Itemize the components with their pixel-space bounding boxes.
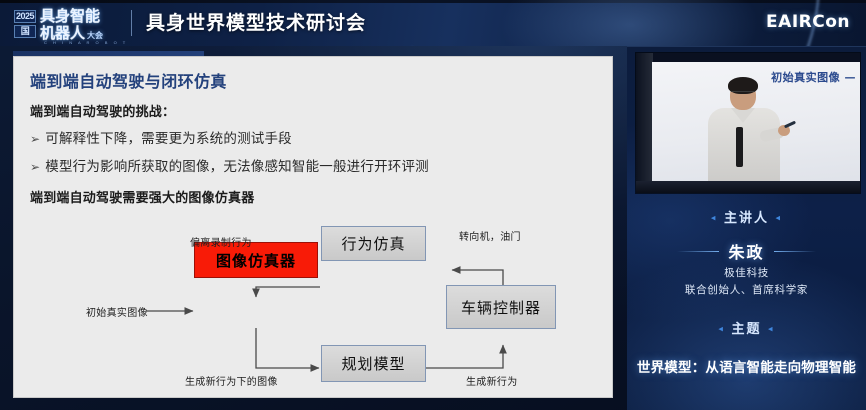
presenter-microphone: [736, 127, 743, 167]
logo-word-line2-sub: 大会: [87, 31, 103, 41]
logo-country-chip: 国: [14, 25, 36, 38]
topic-section-heading: ◂ 主题 ◂: [627, 318, 866, 337]
speaker-heading-text: 主讲人: [724, 211, 769, 226]
screen-root: 2025 国 具身智能 机器人 大会 C H I N A R O B O T 具…: [0, 0, 866, 410]
diagram-label-initial-real-image: 初始真实图像: [86, 304, 148, 319]
logo-year-country-stack: 2025 国: [14, 10, 36, 38]
logo-pinyin: C H I N A R O B O T: [44, 40, 128, 45]
tick-left-icon: ◂: [711, 214, 718, 224]
logo-word-line1: 具身智能: [40, 8, 103, 24]
page-header: 2025 国 具身智能 机器人 大会 C H I N A R O B O T 具…: [0, 0, 866, 46]
diagram-node-planning-model: 规划模型: [321, 345, 426, 382]
speaker-video-thumbnail[interactable]: 初始真实图像 —: [636, 53, 860, 193]
tick-left-icon: ◂: [718, 325, 725, 335]
name-rule-right: [774, 251, 816, 252]
speaker-role: 联合创始人、首席科学家: [627, 282, 866, 297]
video-wall-left: [636, 53, 653, 193]
speaker-section-heading: ◂ 主讲人 ◂: [627, 207, 866, 226]
edge-planning-to-controller: [426, 345, 503, 368]
diagram-label-gen-image-new-behavior: 生成新行为下的图像: [185, 373, 278, 388]
header-title: 具身世界模型技术研讨会: [146, 9, 366, 37]
presentation-slide: 端到端自动驾驶与闭环仿真 端到端自动驾驶的挑战： ➢可解释性下降，需要更为系统的…: [13, 56, 613, 398]
logo-wordmark: 具身智能 机器人 大会: [40, 8, 103, 41]
topic-title: 世界模型：从语言智能走向物理智能: [627, 356, 866, 376]
topic-heading-text: 主题: [731, 322, 761, 337]
speaker-name: 朱政: [728, 239, 764, 263]
diagram-label-gen-new-behavior: 生成新行为: [466, 373, 518, 388]
logo-word-line2: 机器人 大会: [40, 25, 103, 41]
tick-right-icon: ◂: [768, 325, 775, 335]
presenter-glasses: [731, 91, 755, 96]
diagram-node-vehicle-controller: 车辆控制器: [446, 285, 556, 329]
speaker-organization: 极佳科技: [627, 265, 866, 280]
slide-diagram: 行为仿真 图像仿真器 车辆控制器 规划模型 偏离录制行为 初始真实图像 转向机，…: [14, 57, 613, 398]
edge-behaviorsim-to-simulator: [256, 287, 320, 297]
diagram-node-behavior-sim: 行为仿真: [321, 226, 426, 261]
event-logo: 2025 国 具身智能 机器人 大会 C H I N A R O B O T: [14, 5, 103, 43]
header-divider: [131, 10, 132, 36]
panel-top-edge: [627, 46, 866, 47]
speaker-info-panel: 初始真实图像 — ◂ 主讲人 ◂ 朱政: [627, 46, 866, 410]
diagram-label-deviate-record: 偏离录制行为: [190, 234, 252, 249]
logo-year-chip: 2025: [14, 10, 36, 23]
diagram-label-steering-throttle: 转向机，油门: [459, 228, 521, 243]
name-rule-left: [677, 251, 719, 252]
diagram-connector-layer: [14, 57, 613, 398]
video-floor: [636, 181, 860, 193]
edge-simulator-to-planning: [256, 328, 319, 368]
speaker-name-row: 朱政: [627, 239, 866, 263]
presenter-figure: [700, 75, 792, 193]
brand-logo-eaircon: EAIRCon: [766, 11, 850, 33]
logo-word-line2-main: 机器人: [40, 25, 85, 41]
tick-right-icon: ◂: [776, 214, 783, 224]
